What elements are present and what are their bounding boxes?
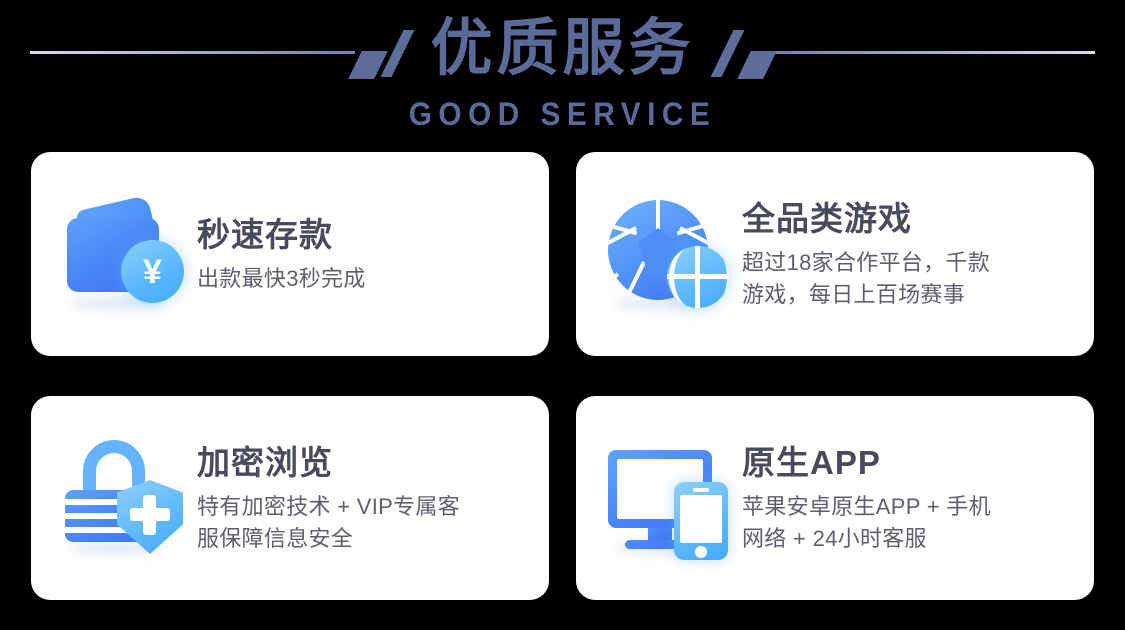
page-subtitle: GOOD SERVICE [39, 96, 1085, 132]
phone-speaker [693, 488, 709, 492]
feature-card-games[interactable]: 全品类游戏 超过18家合作平台，千款 游戏，每日上百场赛事 [576, 152, 1094, 356]
feature-card-deposit[interactable]: ¥ 秒速存款 出款最快3秒完成 [31, 152, 549, 356]
feature-card-native-app[interactable]: 原生APP 苹果安卓原生APP + 手机 网络 + 24小时客服 [576, 396, 1094, 600]
monitor-phone-icon [604, 432, 736, 564]
header: 优质服务 GOOD SERVICE [0, 0, 1125, 145]
promo-banner: 优质服务 GOOD SERVICE ¥ 秒速存款 出款最快3秒完成 [0, 0, 1125, 630]
card-desc-line: 特有加密技术 + VIP专属客 [197, 491, 549, 523]
card-title: 秒速存款 [197, 214, 549, 256]
card-text: 全品类游戏 超过18家合作平台，千款 游戏，每日上百场赛事 [742, 198, 1094, 311]
shield-plus-icon [143, 495, 156, 535]
feature-card-encryption[interactable]: 加密浏览 特有加密技术 + VIP专属客 服保障信息安全 [31, 396, 549, 600]
card-desc-line: 游戏，每日上百场赛事 [742, 279, 1094, 311]
basketball-icon [667, 246, 729, 308]
lock-shield-icon [59, 432, 191, 564]
phone-icon [674, 482, 728, 560]
feature-card-grid: ¥ 秒速存款 出款最快3秒完成 [31, 152, 1094, 600]
yen-coin-icon: ¥ [121, 240, 184, 303]
card-title: 原生APP [742, 442, 1094, 484]
card-desc-line: 出款最快3秒完成 [197, 263, 549, 295]
card-title: 全品类游戏 [742, 198, 1094, 240]
card-text: 秒速存款 出款最快3秒完成 [197, 214, 549, 295]
card-text: 原生APP 苹果安卓原生APP + 手机 网络 + 24小时客服 [742, 442, 1094, 555]
phone-screen [680, 495, 722, 543]
card-text: 加密浏览 特有加密技术 + VIP专属客 服保障信息安全 [197, 442, 549, 555]
card-desc-line: 超过18家合作平台，千款 [742, 247, 1094, 279]
phone-home-button [695, 546, 707, 558]
wallet-coin-icon: ¥ [59, 188, 191, 320]
card-desc-line: 网络 + 24小时客服 [742, 523, 1094, 555]
card-desc-line: 服保障信息安全 [197, 523, 549, 555]
soccer-basketball-icon [604, 188, 736, 320]
card-title: 加密浏览 [197, 442, 549, 484]
page-title: 优质服务 [0, 10, 1125, 88]
card-desc-line: 苹果安卓原生APP + 手机 [742, 491, 1094, 523]
